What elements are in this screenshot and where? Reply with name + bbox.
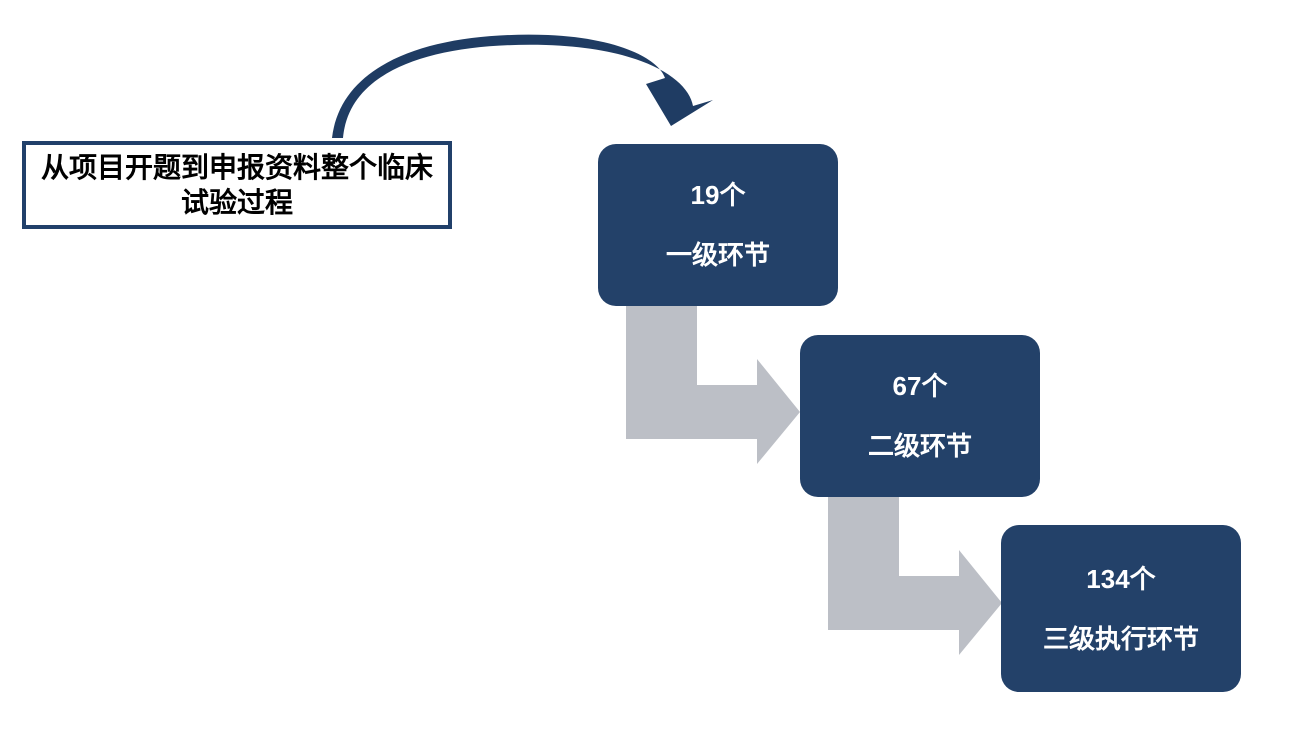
slide-canvas: 从项目开题到申报资料整个临床试验过程 19个 一级环节 67个 二级环节 134… [0, 0, 1291, 743]
flow-node-level-3[interactable]: 134个 三级执行环节 [1001, 525, 1241, 692]
flow-node-level-2-count: 67个 [893, 373, 948, 399]
caption-text: 从项目开题到申报资料整个临床试验过程 [36, 150, 438, 220]
flow-node-level-1[interactable]: 19个 一级环节 [598, 144, 838, 306]
flow-node-level-2-label: 二级环节 [868, 433, 972, 459]
caption-box: 从项目开题到申报资料整个临床试验过程 [22, 141, 452, 229]
flow-node-level-1-count: 19个 [691, 182, 746, 208]
flow-node-level-3-count: 134个 [1086, 566, 1155, 592]
flow-node-level-1-label: 一级环节 [666, 242, 770, 268]
flow-node-level-2[interactable]: 67个 二级环节 [800, 335, 1040, 497]
curved-arrow-caption-to-level1 [332, 35, 713, 138]
elbow-arrow-level1-to-level2 [626, 306, 800, 464]
elbow-arrow-level2-to-level3 [828, 497, 1002, 655]
flow-node-level-3-label: 三级执行环节 [1043, 626, 1199, 652]
